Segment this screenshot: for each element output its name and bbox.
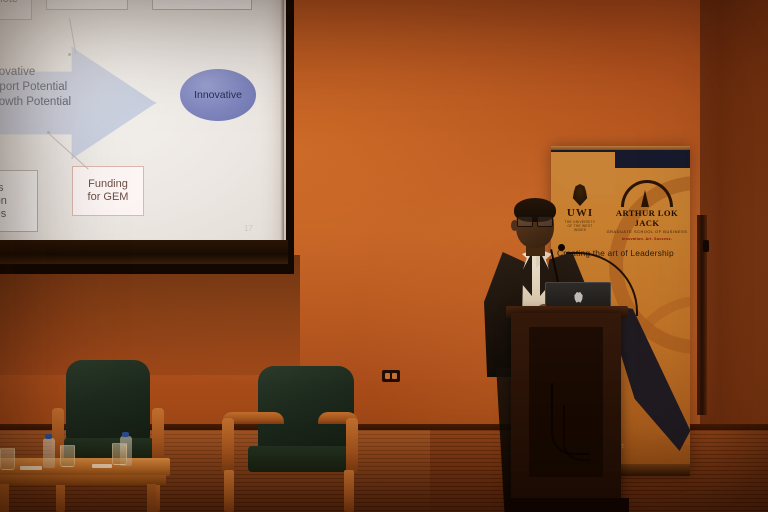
school-tagline: Innovation. Art. Success.: [605, 237, 689, 241]
slide-ellipse-innovative: Innovative: [180, 69, 256, 121]
table-leg-right: [147, 484, 156, 512]
table-apron: [0, 475, 166, 485]
slide-number: 17: [244, 224, 253, 233]
slide-arrow-text: nnovative Export Potential Growth Potent…: [0, 65, 136, 110]
screen-right-edge: [280, 0, 284, 240]
lectern-base: [505, 498, 629, 512]
school-subtitle: GRADUATE SCHOOL OF BUSINESS: [605, 229, 689, 234]
slide-box-identify-promote: ify & note: [0, 0, 32, 20]
chair-arm-post-left: [222, 418, 234, 474]
lok-jack-arch-icon: [621, 180, 673, 207]
slide-box-harmonization: Harmonization: [152, 0, 252, 10]
auditorium-scene: nnovative Export Potential Growth Potent…: [0, 0, 768, 512]
projected-slide: nnovative Export Potential Growth Potent…: [0, 0, 286, 264]
chair-leg-front-left: [224, 470, 234, 512]
napkin-1: [20, 466, 42, 470]
drinking-glass-1[interactable]: [0, 448, 15, 470]
bottle-cap-2: [122, 432, 129, 437]
water-bottle-1[interactable]: [43, 438, 55, 468]
chair-backrest: [66, 360, 150, 442]
slide-box-focus-innovation-incentives: cus ation tives: [0, 170, 38, 232]
outlet-socket-left: [385, 373, 390, 379]
outlet-socket-right: [392, 373, 397, 379]
arrow-line-1: nnovative: [0, 65, 136, 80]
projection-screen: nnovative Export Potential Growth Potent…: [0, 0, 294, 274]
table-leg-left: [0, 484, 9, 512]
slide-connector-dot-1: [68, 53, 71, 56]
napkin-2: [92, 464, 112, 468]
screen-bottom-bar: [0, 240, 288, 264]
microphone-head-icon: [558, 244, 565, 251]
slide-box-awareness: awareness: [46, 0, 128, 10]
slide-connector-dot-3: [47, 131, 50, 134]
slide-box-funding-for-gem: Funding for GEM: [72, 166, 144, 216]
chair-backrest: [258, 366, 354, 452]
power-outlet-icon[interactable]: [382, 370, 400, 382]
arrow-line-3: Growth Potential: [0, 95, 136, 110]
door-handle-icon[interactable]: [703, 240, 709, 252]
arrow-line-2: Export Potential: [0, 80, 136, 95]
panel-chair-right[interactable]: [222, 366, 358, 512]
lectern: [511, 313, 621, 512]
school-name: ARTHUR LOK JACK: [605, 208, 689, 228]
wall-right-shadow: [700, 0, 768, 430]
chair-arm-post-right: [346, 418, 358, 474]
chair-leg-front-right: [344, 470, 354, 512]
eyeglasses-icon: [517, 216, 553, 225]
bottle-cap-1: [45, 434, 52, 439]
drinking-glass-2[interactable]: [60, 445, 75, 467]
banner-top-rim: [551, 146, 690, 150]
arthur-lok-jack-logo: ARTHUR LOK JACK GRADUATE SCHOOL OF BUSIN…: [605, 180, 689, 241]
apple-logo-icon: [574, 292, 583, 303]
cable-2: [563, 405, 591, 461]
drinking-glass-3[interactable]: [112, 443, 127, 465]
chair-seat: [248, 446, 354, 472]
